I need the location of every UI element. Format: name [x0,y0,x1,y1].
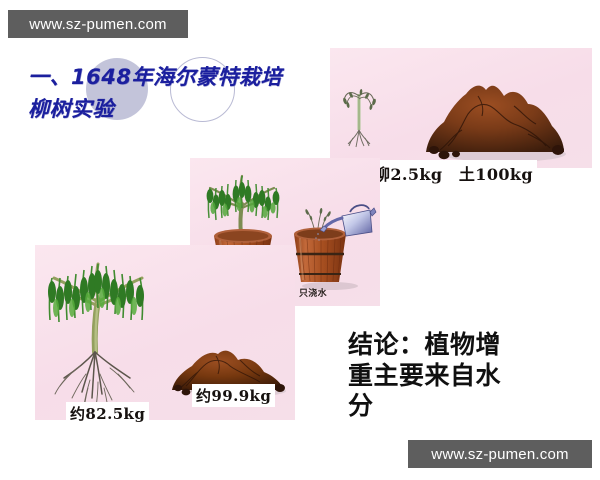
empty-pot-with-watering-can-icon [288,200,376,288]
page-title: 一、1648年海尔蒙特栽培 柳树实验 [28,62,328,126]
conclusion-text: 结论：植物增 重主要来自水 分 [348,330,558,422]
label-tree-final-weight: 约82.5kg [66,402,149,425]
willow-tree-with-roots-icon [40,248,158,416]
page-title-line-1: 一、1648年海尔蒙特栽培 [28,62,328,94]
willow-sapling-icon [337,72,383,150]
watermark-top: www.sz-pumen.com [8,10,188,38]
slide-canvas: www.sz-pumen.com 一、1648年海尔蒙特栽培 柳树实验 [0,0,600,480]
page-title-line-2: 柳树实验 [28,94,328,126]
conclusion-line-1: 结论：植物增 [348,330,558,361]
label-soil-final-weight: 约99.9kg [192,384,275,407]
soil-mound-icon-initial [418,76,568,162]
label-only-water: 只浇水 [299,286,327,299]
conclusion-line-3: 分 [348,391,558,422]
label-initial-weights: 柳2.5kg 土100kg [370,160,537,186]
watermark-bottom: www.sz-pumen.com [408,440,592,468]
conclusion-line-2: 重主要来自水 [348,361,558,392]
